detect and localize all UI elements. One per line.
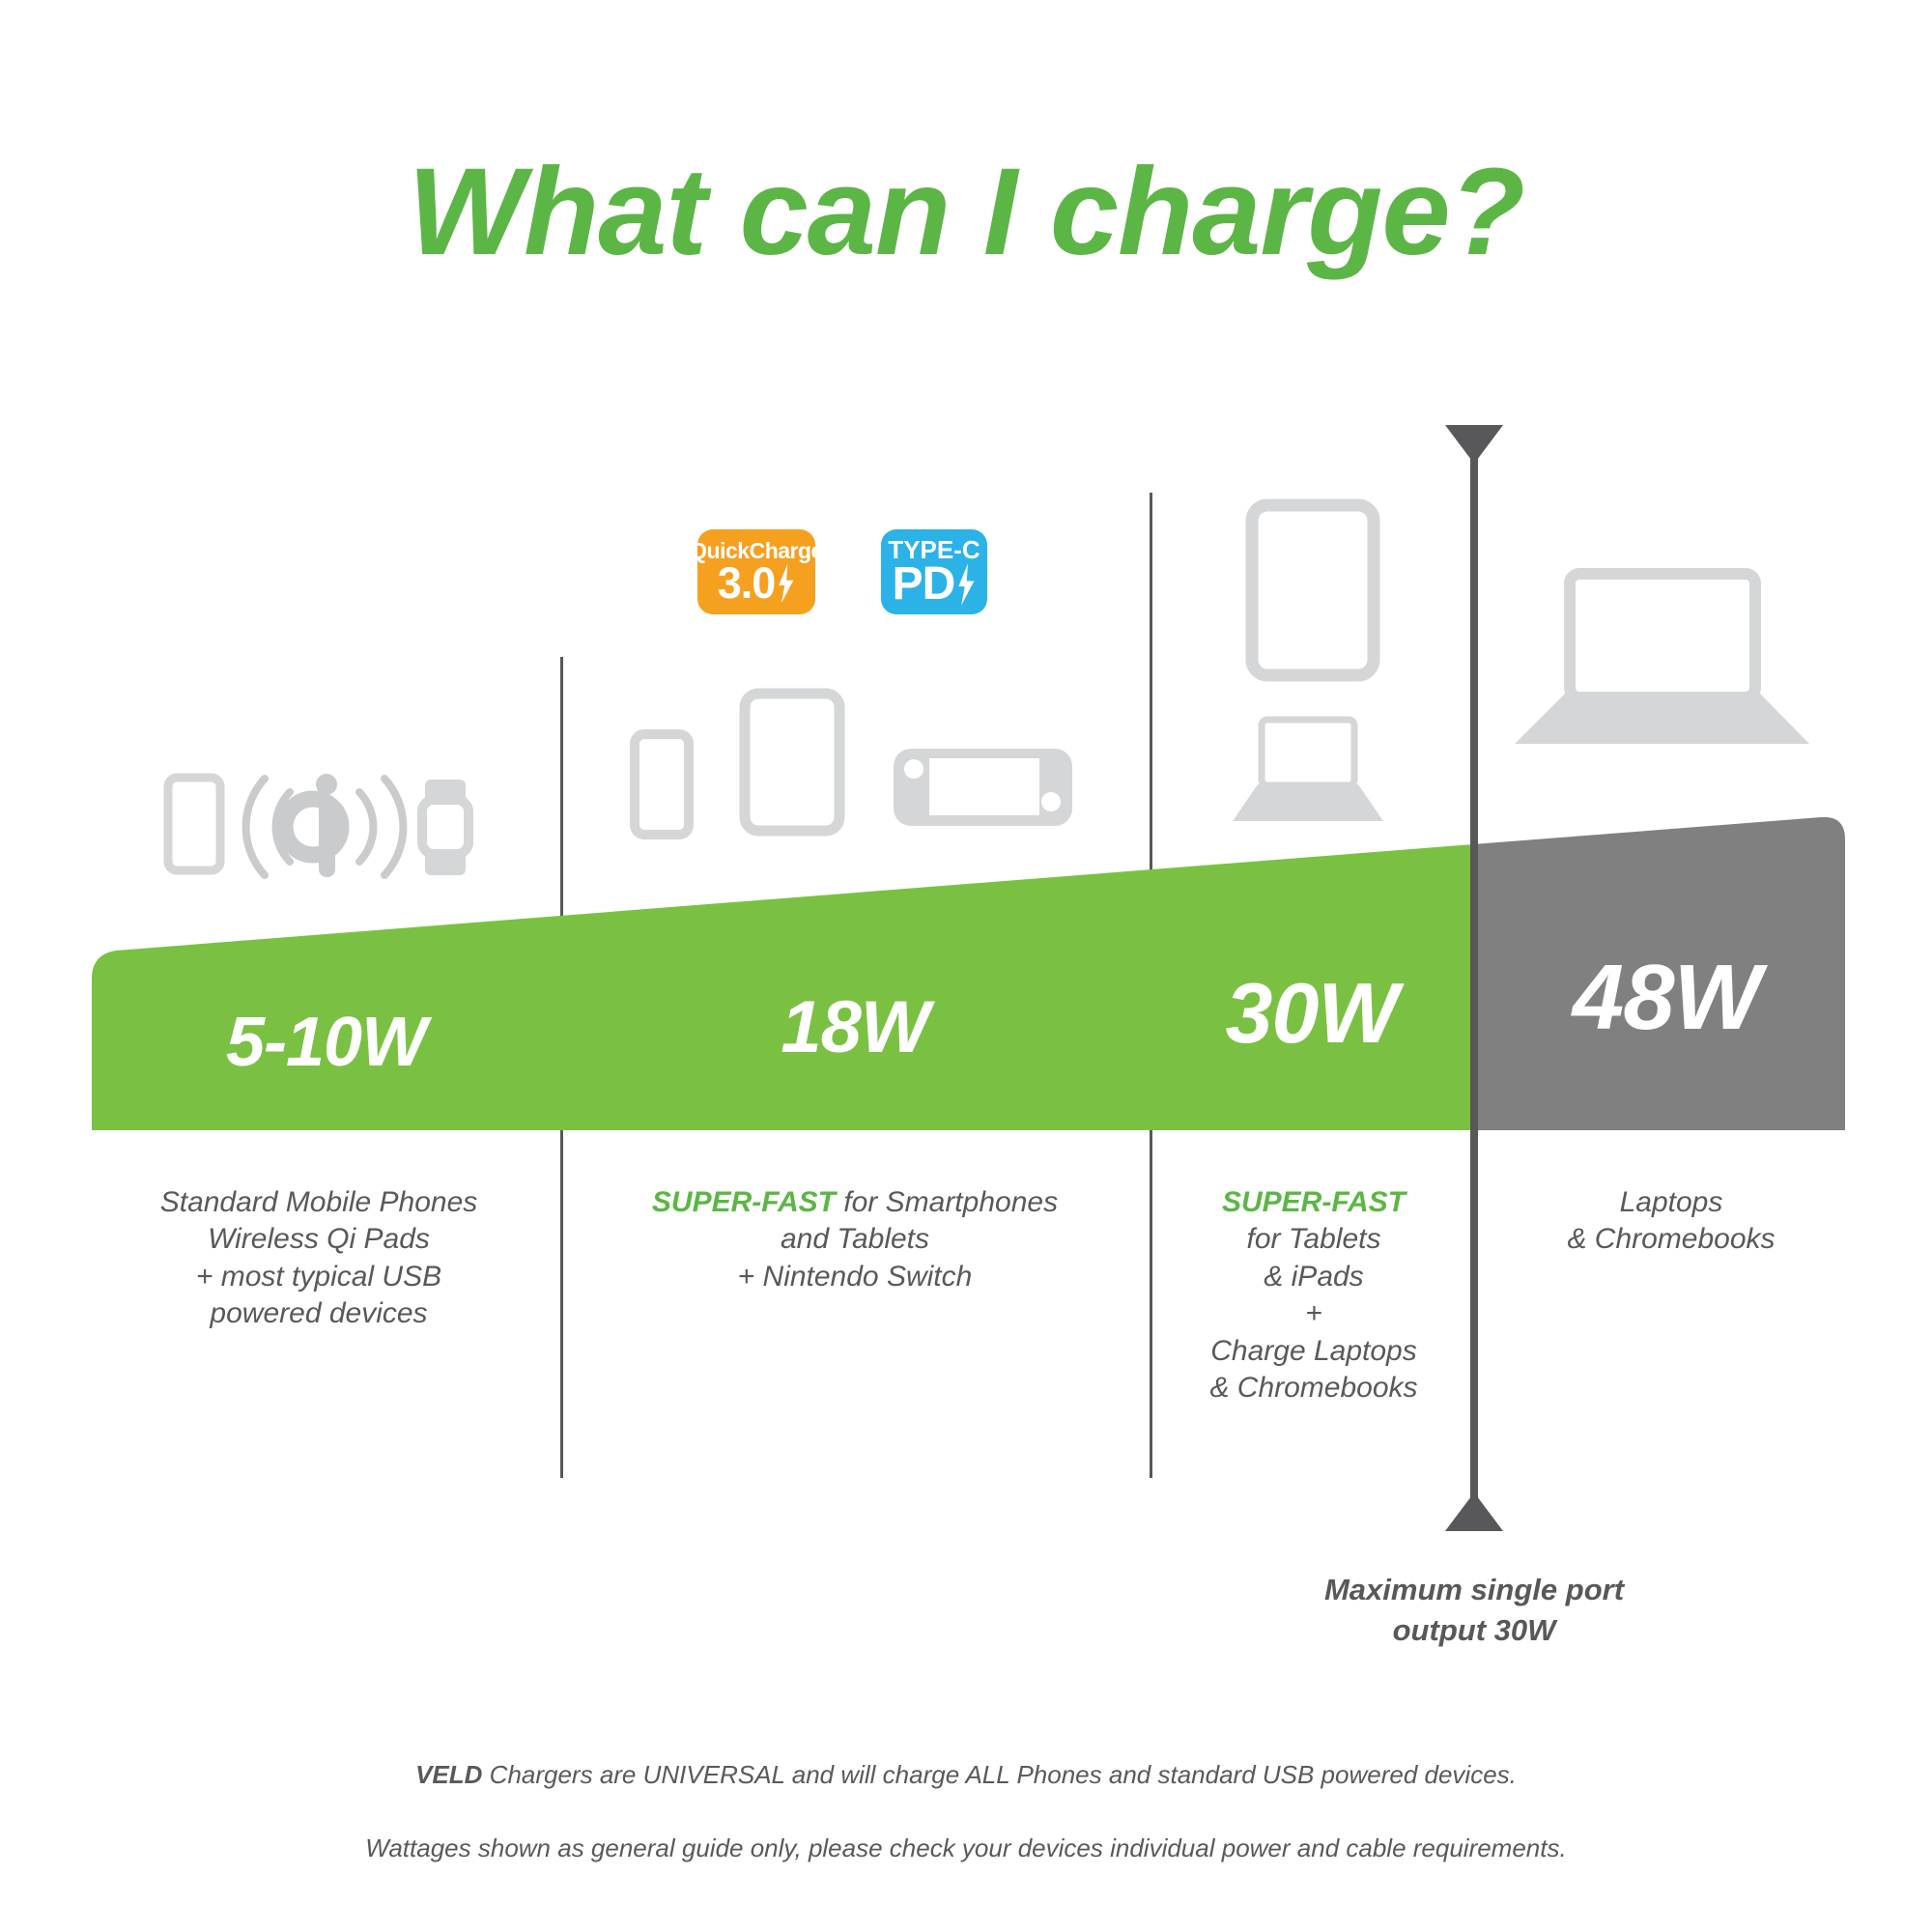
caption-line: + most typical USB <box>72 1259 565 1295</box>
super-fast-highlight: SUPER-FAST <box>1222 1186 1406 1218</box>
max-output-marker-line <box>1470 454 1478 1526</box>
caption-line: & Chromebooks <box>1478 1221 1864 1258</box>
watt-label-48W: 48W <box>1507 945 1826 1051</box>
watt-label-18W: 18W <box>560 985 1150 1069</box>
caption-line-rest: for Smartphones <box>836 1186 1058 1218</box>
caption-line: Wireless Qi Pads <box>72 1221 565 1258</box>
footer-line-2: Wattages shown as general guide only, pl… <box>0 1833 1932 1863</box>
caption-tier-4: Laptops & Chromebooks <box>1478 1184 1864 1259</box>
caption-line: and Tablets <box>565 1221 1145 1258</box>
caption-tier-1: Standard Mobile Phones Wireless Qi Pads … <box>72 1184 565 1333</box>
caption-line: + Nintendo Switch <box>565 1259 1145 1295</box>
max-output-label: Maximum single port output 30W <box>1184 1570 1764 1651</box>
caption-line: + <box>1154 1295 1473 1332</box>
footer-line-1-rest: Chargers are UNIVERSAL and will charge A… <box>482 1760 1516 1789</box>
watt-label-30W: 30W <box>1150 964 1473 1063</box>
caption-line: & iPads <box>1154 1259 1473 1295</box>
max-output-label-line2: output 30W <box>1184 1610 1764 1651</box>
caption-line: for Tablets <box>1154 1221 1473 1258</box>
super-fast-highlight: SUPER-FAST <box>652 1186 836 1218</box>
caption-line: Standard Mobile Phones <box>72 1184 565 1221</box>
caption-tier-3: SUPER-FAST for Tablets & iPads + Charge … <box>1154 1184 1473 1406</box>
caption-line: & Chromebooks <box>1154 1370 1473 1406</box>
footer-brand: VELD <box>415 1760 482 1789</box>
caption-line: powered devices <box>72 1295 565 1332</box>
max-output-label-line1: Maximum single port <box>1184 1570 1764 1610</box>
caption-line: SUPER-FAST <box>1154 1184 1473 1221</box>
footer-line-1: VELD Chargers are UNIVERSAL and will cha… <box>0 1760 1932 1790</box>
caption-tier-2: SUPER-FAST for Smartphones and Tablets +… <box>565 1184 1145 1295</box>
caption-line: SUPER-FAST for Smartphones <box>565 1184 1145 1221</box>
caption-line: Laptops <box>1478 1184 1864 1221</box>
triangle-up-icon <box>1445 1492 1503 1531</box>
caption-line: Charge Laptops <box>1154 1333 1473 1370</box>
triangle-down-icon <box>1445 425 1503 464</box>
infographic-root: What can I charge? QuickCharge 3.0 TYPE-… <box>0 0 1932 1932</box>
watt-label-5-10W: 5-10W <box>92 1003 560 1082</box>
